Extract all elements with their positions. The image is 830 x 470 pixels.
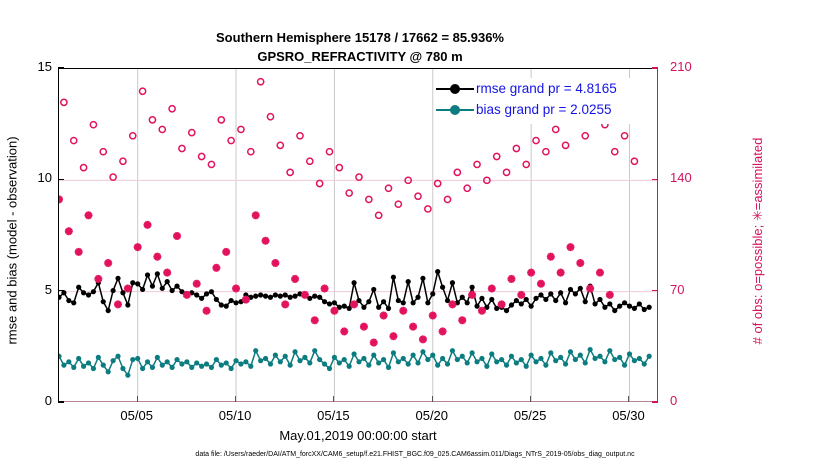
y-tick-label-right: 70 <box>670 282 714 297</box>
y-tick-label-right: 210 <box>670 59 714 74</box>
y-tick-label-right: 0 <box>670 393 714 408</box>
legend-label-rmse: rmse grand pr = 4.8165 <box>476 81 617 96</box>
y-tick-mark-left <box>58 290 64 292</box>
y-tick-label-right: 140 <box>670 170 714 185</box>
x-tick-label: 05/10 <box>205 408 265 423</box>
axis-ticks-layer: 05101507014021005/0505/1005/1505/2005/25… <box>0 0 830 470</box>
legend-entry-bias[interactable]: bias grand pr = 2.0255 <box>434 99 650 120</box>
legend-entry-rmse[interactable]: rmse grand pr = 4.8165 <box>434 78 650 99</box>
x-tick-label: 05/20 <box>402 408 462 423</box>
x-tick-label: 05/05 <box>107 408 167 423</box>
x-tick-mark <box>235 396 236 402</box>
y-axis-label-right-text: # of obs: o=possible; ✳=assimilated <box>750 96 766 386</box>
figure-canvas: Southern Hemisphere 15178 / 17662 = 85.9… <box>0 0 830 470</box>
x-tick-mark <box>530 396 531 402</box>
x-axis-label: May.01,2019 00:00:00 start <box>58 428 658 443</box>
y-tick-mark-right <box>652 179 658 181</box>
y-axis-label-left: rmse and bias (model - observation) <box>2 95 22 385</box>
x-tick-mark <box>333 396 334 402</box>
data-file-footer: data file: /Users/raeder/DAI/ATM_forcXX/… <box>0 451 830 458</box>
y-tick-label-left: 15 <box>8 59 52 74</box>
y-tick-mark-left <box>58 401 64 403</box>
y-tick-label-left: 0 <box>8 393 52 408</box>
y-tick-mark-right <box>652 290 658 292</box>
legend-label-bias: bias grand pr = 2.0255 <box>476 102 611 117</box>
x-tick-label: 05/25 <box>500 408 560 423</box>
x-tick-mark <box>432 396 433 402</box>
y-axis-label-right: # of obs: o=possible; ✳=assimilated <box>748 95 768 385</box>
legend-marker-rmse <box>434 82 476 96</box>
y-tick-mark-left <box>58 179 64 181</box>
y-tick-mark-right <box>652 67 658 69</box>
y-axis-label-left-text: rmse and bias (model - observation) <box>5 96 20 386</box>
y-tick-mark-left <box>58 67 64 69</box>
legend-marker-bias <box>434 103 476 117</box>
legend: rmse grand pr = 4.8165 bias grand pr = 2… <box>434 78 650 124</box>
x-tick-label: 05/30 <box>598 408 658 423</box>
x-tick-label: 05/15 <box>303 408 363 423</box>
y-tick-mark-right <box>652 401 658 403</box>
x-tick-mark <box>628 396 629 402</box>
x-tick-mark <box>137 396 138 402</box>
